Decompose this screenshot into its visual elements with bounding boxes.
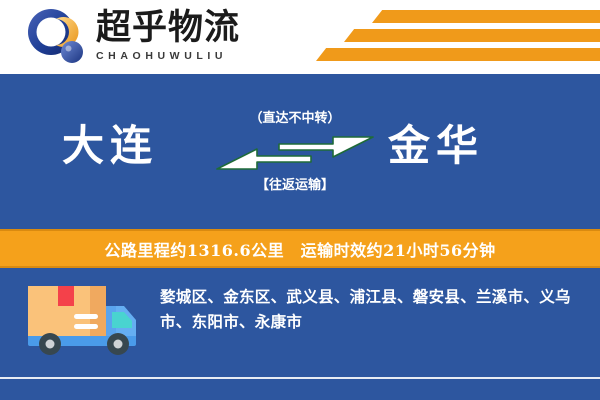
brand-name-en: CHAOHUWULIU [96, 49, 281, 63]
banner-header: 超乎物流 CHAOHUWULIU [0, 0, 600, 74]
distance-duration-text: 公路里程约1316.6公里 运输时效约21小时56分钟 [104, 237, 495, 261]
bottom-divider [0, 377, 600, 379]
delivery-truck-icon [24, 280, 144, 358]
logistics-route-banner: 超乎物流 CHAOHUWULIU 大连 （直达不中转） 【往返运输】 金华 公路… [0, 0, 600, 400]
origin-city: 大连 [62, 120, 158, 172]
destination-city: 金华 [388, 120, 484, 172]
brand-name-cn: 超乎物流 [96, 8, 281, 48]
stripe-1 [372, 10, 600, 23]
stripe-3 [316, 48, 600, 61]
circle-crescent-logo-icon [26, 8, 88, 66]
coverage-districts: 婺城区、金东区、武义县、浦江县、磐安县、兰溪市、义乌市、东阳市、永康市 [160, 284, 580, 334]
route-section: 大连 （直达不中转） 【往返运输】 金华 [0, 74, 600, 229]
brand-lockup: 超乎物流 CHAOHUWULIU [96, 8, 281, 63]
distance-duration-bar: 公路里程约1316.6公里 运输时效约21小时56分钟 [0, 229, 600, 268]
coverage-section: 婺城区、金东区、武义县、浦江县、磐安县、兰溪市、义乌市、东阳市、永康市 [0, 268, 600, 400]
bidirectional-arrow-icon [215, 134, 375, 172]
stripe-2 [344, 29, 600, 42]
direct-service-note: （直达不中转） [215, 110, 375, 128]
decorative-stripes [310, 8, 600, 66]
roundtrip-note: 【往返运输】 [215, 177, 375, 195]
route-middle: （直达不中转） 【往返运输】 [215, 110, 375, 195]
